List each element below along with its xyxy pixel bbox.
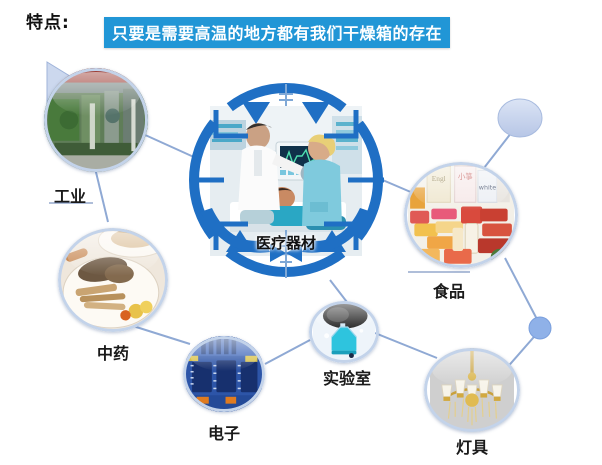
industrial-machinery-photo bbox=[44, 68, 148, 172]
food-bubble[interactable]: Engl 小箏 white bbox=[404, 162, 518, 268]
node-label-laboratory: 实验室 bbox=[304, 365, 390, 389]
laboratory-flask-photo bbox=[309, 301, 379, 363]
accent-dot-top-right bbox=[498, 99, 542, 137]
node-label-electronics: 电子 bbox=[184, 420, 264, 444]
node-label-lighting: 灯具 bbox=[432, 434, 512, 458]
node-label-herbs: 中药 bbox=[73, 340, 153, 364]
industry-bubble[interactable] bbox=[44, 68, 148, 172]
svg-text:Engl: Engl bbox=[432, 174, 446, 183]
svg-text:小箏: 小箏 bbox=[458, 171, 473, 181]
accent-dot-bottom-right bbox=[529, 317, 551, 339]
node-medical-center[interactable]: 医疗器材 bbox=[186, 80, 386, 280]
svg-text:white: white bbox=[479, 185, 496, 192]
laboratory-bubble[interactable] bbox=[309, 301, 379, 363]
food-packaging-photo: Engl 小箏 white bbox=[404, 162, 518, 268]
headline-banner: 只要是需要高温的地方都有我们干燥箱的存在 bbox=[104, 17, 450, 48]
circuit-board-photo bbox=[183, 336, 265, 412]
node-label-food: 食品 bbox=[409, 278, 489, 302]
node-label-medical: 医疗器材 bbox=[186, 232, 386, 253]
line-food-hub bbox=[505, 258, 540, 325]
diagram-canvas: 特点: 只要是需要高温的地方都有我们干燥箱的存在 bbox=[0, 0, 602, 465]
node-label-industry: 工业 bbox=[30, 183, 110, 207]
lighting-bubble[interactable] bbox=[424, 348, 520, 432]
electronics-bubble[interactable] bbox=[183, 336, 265, 412]
chinese-herbal-medicine-photo bbox=[58, 228, 168, 332]
page-title: 特点: bbox=[26, 8, 70, 33]
line-electronics-lab bbox=[265, 340, 310, 364]
chandelier-photo bbox=[424, 348, 520, 432]
herbs-bubble[interactable] bbox=[58, 228, 168, 332]
